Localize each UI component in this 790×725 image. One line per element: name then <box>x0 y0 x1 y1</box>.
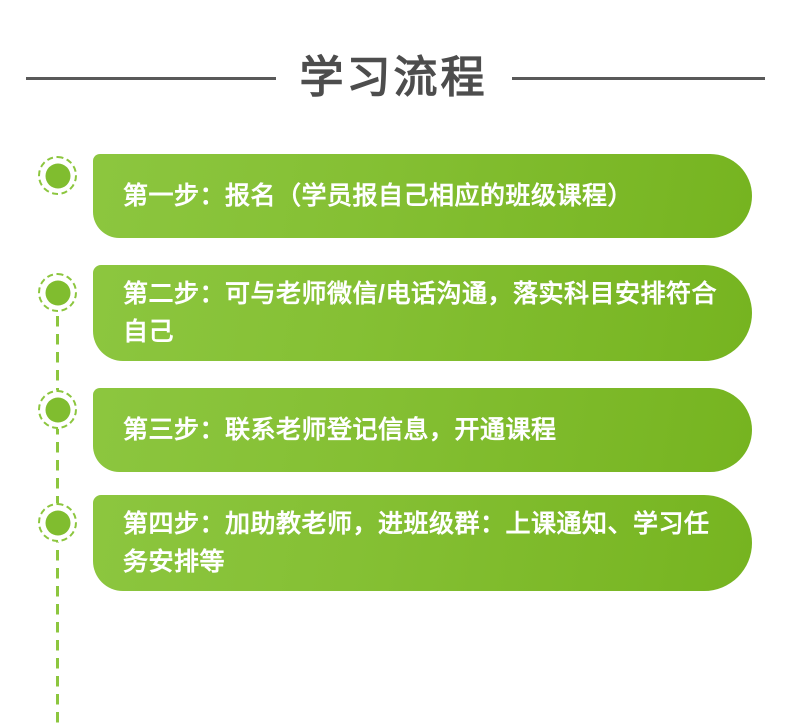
step-bar-4[interactable]: 第四步：加助教老师，进班级群：上课通知、学习任务安排等 <box>93 495 752 591</box>
step-bar-1[interactable]: 第一步：报名（学员报自己相应的班级课程） <box>93 154 752 238</box>
page-header: 学习流程 <box>0 42 790 114</box>
timeline-step: 第一步：报名（学员报自己相应的班级课程） <box>0 146 790 242</box>
timeline-dot-icon <box>38 390 77 429</box>
step-label-4: 第四步：加助教老师，进班级群：上课通知、学习任务安排等 <box>123 505 718 581</box>
page-title: 学习流程 <box>300 56 488 100</box>
header-rule-left <box>26 77 276 80</box>
timeline-dot-inner-icon <box>45 397 70 422</box>
step-label-2: 第二步：可与老师微信/电话沟通，落实科目安排符合自己 <box>123 275 718 351</box>
timeline-step: 第二步：可与老师微信/电话沟通，落实科目安排符合自己 <box>0 263 790 359</box>
header-rule-right <box>512 77 765 80</box>
timeline-dot-icon <box>38 156 77 195</box>
timeline-dot-icon <box>38 273 77 312</box>
timeline-dot-inner-icon <box>45 280 70 305</box>
step-label-3: 第三步：联系老师登记信息，开通课程 <box>123 411 557 449</box>
step-label-1: 第一步：报名（学员报自己相应的班级课程） <box>123 177 633 215</box>
step-bar-3[interactable]: 第三步：联系老师登记信息，开通课程 <box>93 388 752 472</box>
timeline-dot-inner-icon <box>45 510 70 535</box>
timeline-dot-icon <box>38 503 77 542</box>
timeline-step: 第四步：加助教老师，进班级群：上课通知、学习任务安排等 <box>0 493 790 589</box>
timeline-step: 第三步：联系老师登记信息，开通课程 <box>0 380 790 476</box>
process-timeline: 第一步：报名（学员报自己相应的班级课程） 第二步：可与老师微信/电话沟通，落实科… <box>0 130 790 592</box>
step-bar-2[interactable]: 第二步：可与老师微信/电话沟通，落实科目安排符合自己 <box>93 265 752 361</box>
timeline-dot-inner-icon <box>45 163 70 188</box>
